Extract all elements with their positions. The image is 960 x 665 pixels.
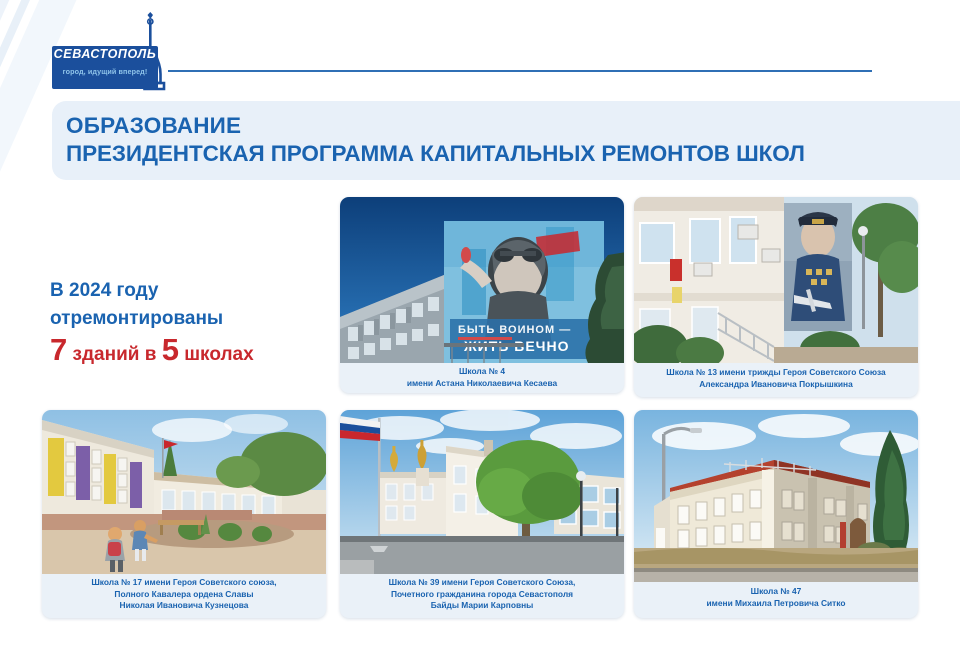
caption-line-2: Полного Кавалера ордена Славы bbox=[48, 589, 320, 601]
photo-card-school-39[interactable]: Школа № 39 имени Героя Советского Союза,… bbox=[340, 410, 624, 618]
school-13-caption: Школа № 13 имени трижды Героя Советского… bbox=[634, 363, 918, 397]
school-47-photo bbox=[634, 410, 918, 582]
photo-card-school-4[interactable]: БЫТЬ ВОИНОМ — ЖИТЬ ВЕЧНО Школа № 4 имени… bbox=[340, 197, 624, 393]
photo-card-school-47[interactable]: Школа № 47 имени Михаила Петровича Ситко bbox=[634, 410, 918, 618]
caption-line-3: Байды Марии Карповны bbox=[346, 600, 618, 612]
school-17-caption: Школа № 17 имени Героя Советского союза,… bbox=[42, 574, 326, 618]
logo-tagline: город, идущий вперед! bbox=[52, 67, 158, 76]
title-line-1: ОБРАЗОВАНИЕ bbox=[66, 112, 946, 140]
school-4-photo: БЫТЬ ВОИНОМ — ЖИТЬ ВЕЧНО bbox=[340, 197, 624, 363]
photo-card-school-13[interactable]: Школа № 13 имени трижды Героя Советского… bbox=[634, 197, 918, 397]
schools-count: 5 bbox=[162, 332, 179, 367]
caption-line-2: Почетного гражданина города Севастополя bbox=[346, 589, 618, 601]
caption-line-2: имени Астана Николаевича Кесаева bbox=[346, 378, 618, 390]
buildings-label: зданий в bbox=[73, 344, 157, 365]
buildings-count: 7 bbox=[50, 332, 67, 367]
school-13-photo bbox=[634, 197, 918, 363]
caption-line-1: Школа № 39 имени Героя Советского Союза, bbox=[346, 577, 618, 589]
school-39-caption: Школа № 39 имени Героя Советского Союза,… bbox=[340, 574, 624, 618]
stats-action-line: отремонтированы bbox=[50, 304, 322, 334]
svg-text:БЫТЬ ВОИНОМ —: БЫТЬ ВОИНОМ — bbox=[458, 324, 571, 336]
caption-line-3: Николая Ивановича Кузнецова bbox=[48, 600, 320, 612]
page-title: ОБРАЗОВАНИЕ ПРЕЗИДЕНТСКАЯ ПРОГРАММА КАПИ… bbox=[66, 112, 946, 168]
caption-line-1: Школа № 17 имени Героя Советского союза, bbox=[48, 577, 320, 589]
stats-year-line: В 2024 году bbox=[50, 278, 322, 304]
schools-label: школах bbox=[184, 344, 253, 365]
caption-line-2: имени Михаила Петровича Ситко bbox=[640, 598, 912, 610]
header-divider-rule bbox=[168, 70, 872, 72]
caption-line-1: Школа № 13 имени трижды Героя Советского… bbox=[640, 367, 912, 379]
presentation-slide: СЕВАСТОПОЛЬ город, идущий вперед! ОБРАЗО… bbox=[0, 0, 960, 665]
caption-line-1: Школа № 47 bbox=[640, 586, 912, 598]
caption-line-2: Александра Ивановича Покрышкина bbox=[640, 379, 912, 391]
school-39-photo bbox=[340, 410, 624, 574]
statistics-block: В 2024 году отремонтированы 7 зданий в 5… bbox=[50, 278, 322, 371]
title-line-2: ПРЕЗИДЕНТСКАЯ ПРОГРАММА КАПИТАЛЬНЫХ РЕМО… bbox=[66, 140, 946, 168]
school-17-photo bbox=[42, 410, 326, 574]
photo-card-school-17[interactable]: Школа № 17 имени Героя Советского союза,… bbox=[42, 410, 326, 618]
stats-counts-line: 7 зданий в 5 школах bbox=[50, 334, 322, 371]
logo-city-name: СЕВАСТОПОЛЬ bbox=[52, 47, 158, 62]
school-47-caption: Школа № 47 имени Михаила Петровича Ситко bbox=[634, 582, 918, 618]
sevastopol-logo: СЕВАСТОПОЛЬ город, идущий вперед! bbox=[52, 12, 172, 92]
caption-line-1: Школа № 4 bbox=[346, 366, 618, 378]
school-4-caption: Школа № 4 имени Астана Николаевича Кесае… bbox=[340, 363, 624, 393]
